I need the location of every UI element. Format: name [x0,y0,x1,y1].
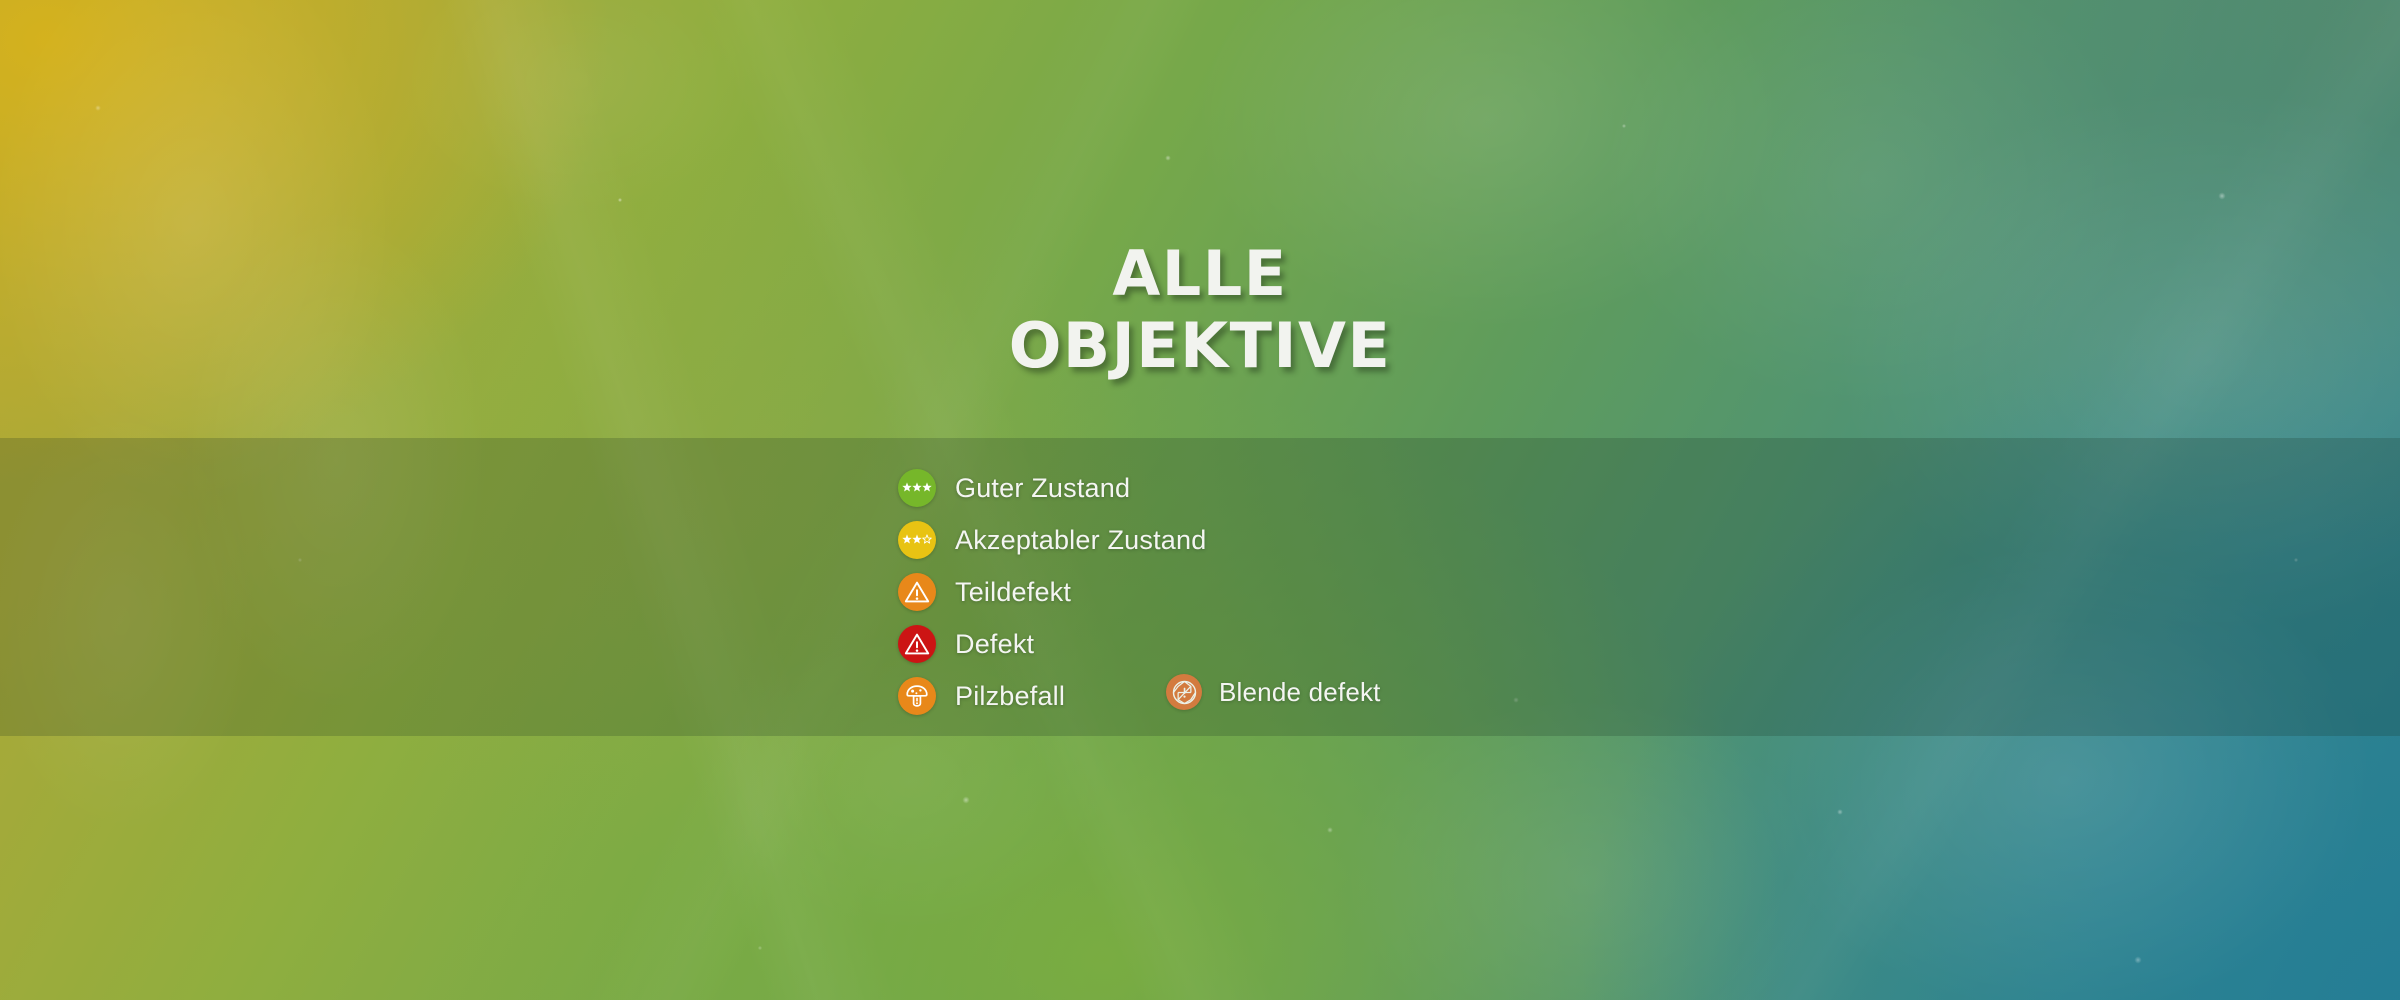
legend-item-label: Blende defekt [1219,676,1381,708]
legend-item-label: Akzeptabler Zustand [955,524,1206,556]
legend-item-label: Guter Zustand [955,472,1130,504]
page-title-line-2: OBJEKTIVE [0,310,2400,382]
banner-canvas: ALLE OBJEKTIVE Guter Zustand [0,0,2400,1000]
legend-item-guter-zustand[interactable]: Guter Zustand [898,462,1206,514]
legend-item-pilzbefall[interactable]: Pilzbefall [898,670,1206,722]
legend-item-defekt[interactable]: Defekt [898,618,1206,670]
legend-item-blende-defekt[interactable]: Blende defekt [1166,674,1381,710]
legend-item-label: Pilzbefall [955,680,1065,712]
mushroom-icon [898,677,936,715]
three-stars-icon [898,469,936,507]
condition-legend: Guter Zustand Akzeptabler Zustand [898,462,1206,722]
legend-item-label: Teildefekt [955,576,1071,608]
aperture-warning-icon [1166,674,1202,710]
warning-triangle-icon [898,625,936,663]
two-stars-icon [898,521,936,559]
page-title-line-1: ALLE [0,238,2400,310]
legend-item-akzeptabler-zustand[interactable]: Akzeptabler Zustand [898,514,1206,566]
warning-triangle-icon [898,573,936,611]
legend-item-label: Defekt [955,628,1034,660]
legend-item-teildefekt[interactable]: Teildefekt [898,566,1206,618]
page-title: ALLE OBJEKTIVE [0,238,2400,382]
